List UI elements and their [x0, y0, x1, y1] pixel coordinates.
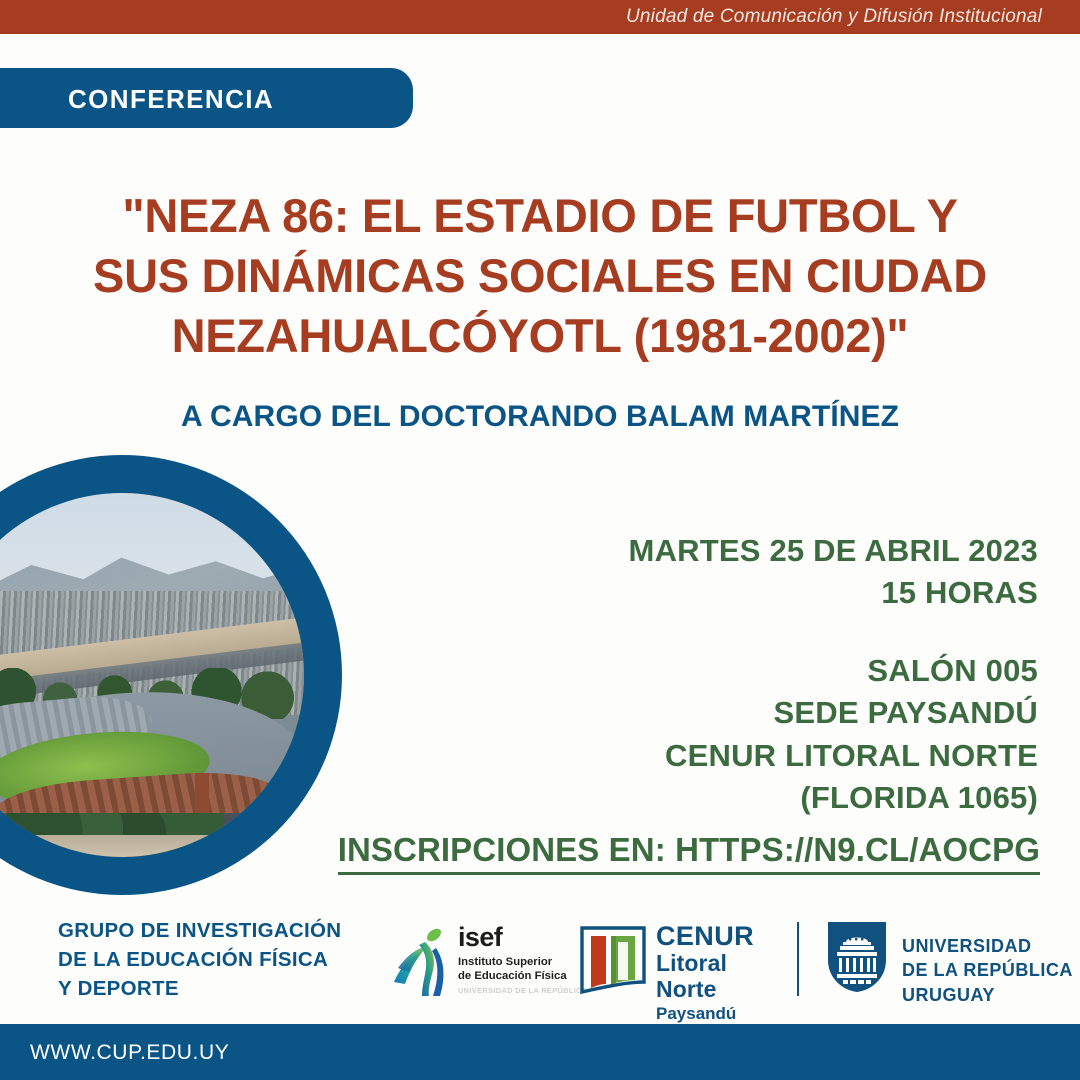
- cenur-logo: CENUR Litoral Norte Paysandú: [578, 920, 788, 1000]
- cenur-line-3: Paysandú: [656, 1004, 788, 1024]
- udelar-logo: UNIVERSIDAD DE LA REPÚBLICA URUGUAY: [826, 920, 1056, 1000]
- event-date: MARTES 25 DE ABRIL 2023: [418, 530, 1038, 572]
- speaker-subtitle: A CARGO DEL DOCTORANDO BALAM MARTÍNEZ: [40, 400, 1040, 434]
- event-venue: SEDE PAYSANDÚ: [418, 692, 1038, 734]
- cenur-book-icon: [578, 922, 650, 996]
- photo-ground: [0, 835, 304, 857]
- title-line-2: SUS DINÁMICAS SOCIALES EN CIUDAD: [40, 246, 1040, 306]
- event-address: (FLORIDA 1065): [418, 777, 1038, 819]
- cenur-line-1: CENUR: [656, 922, 788, 951]
- research-group-line-1: GRUPO DE INVESTIGACIÓN: [58, 916, 388, 945]
- event-time: 15 HORAS: [418, 572, 1038, 614]
- registration-link-row[interactable]: INSCRIPCIONES EN: HTTPS://N9.CL/AOCPG: [280, 831, 1040, 869]
- cenur-wordmark: CENUR Litoral Norte Paysandú: [656, 922, 788, 1024]
- stadium-photo: [0, 493, 304, 857]
- udelar-wordmark: UNIVERSIDAD DE LA REPÚBLICA URUGUAY: [902, 934, 1073, 1007]
- title-line-3: NEZAHUALCÓYOTL (1981-2002)": [40, 306, 1040, 366]
- research-group-line-3: Y DEPORTE: [58, 974, 388, 1003]
- udelar-line-3: URUGUAY: [902, 983, 1073, 1007]
- research-group-label: GRUPO DE INVESTIGACIÓN DE LA EDUCACIÓN F…: [58, 916, 388, 1003]
- isef-subtitle-line-2: de Educación Física: [458, 969, 570, 983]
- event-room: SALÓN 005: [418, 650, 1038, 692]
- footer-website[interactable]: WWW.CUP.EDU.UY: [30, 1041, 229, 1065]
- institutional-unit-label: Unidad de Comunicación y Difusión Instit…: [626, 6, 1042, 28]
- details-spacer: [418, 614, 1038, 650]
- cenur-line-2: Litoral Norte: [656, 951, 788, 1003]
- isef-subtitle: Instituto Superior de Educación Física: [458, 955, 570, 983]
- isef-name: isef: [458, 924, 570, 951]
- top-banner: Unidad de Comunicación y Difusión Instit…: [0, 0, 1080, 34]
- udelar-line-1: UNIVERSIDAD: [902, 934, 1073, 958]
- isef-figure-icon: [392, 920, 454, 998]
- isef-logo: isef Instituto Superior de Educación Fís…: [392, 918, 567, 1000]
- event-center: CENUR LITORAL NORTE: [418, 735, 1038, 777]
- research-group-line-2: DE LA EDUCACIÓN FÍSICA: [58, 945, 388, 974]
- footer-bar: WWW.CUP.EDU.UY: [0, 1024, 1080, 1080]
- udelar-line-2: DE LA REPÚBLICA: [902, 958, 1073, 982]
- udelar-shield-icon: [826, 920, 888, 994]
- title-line-1: "NEZA 86: EL ESTADIO DE FUTBOL Y: [40, 186, 1040, 246]
- logo-strip: GRUPO DE INVESTIGACIÓN DE LA EDUCACIÓN F…: [0, 900, 1080, 1020]
- conference-badge-label: CONFERENCIA: [68, 84, 274, 115]
- photo-circle-frame: [0, 455, 342, 895]
- page-title: "NEZA 86: EL ESTADIO DE FUTBOL Y SUS DIN…: [40, 186, 1040, 366]
- event-details: MARTES 25 DE ABRIL 2023 15 HORAS SALÓN 0…: [418, 530, 1038, 819]
- isef-university-line: UNIVERSIDAD DE LA REPÚBLICA: [458, 986, 570, 995]
- isef-subtitle-line-1: Instituto Superior: [458, 955, 570, 969]
- registration-link[interactable]: INSCRIPCIONES EN: HTTPS://N9.CL/AOCPG: [338, 831, 1040, 875]
- conference-badge: CONFERENCIA: [0, 68, 413, 128]
- logo-divider: [797, 922, 799, 996]
- isef-wordmark: isef Instituto Superior de Educación Fís…: [458, 924, 570, 995]
